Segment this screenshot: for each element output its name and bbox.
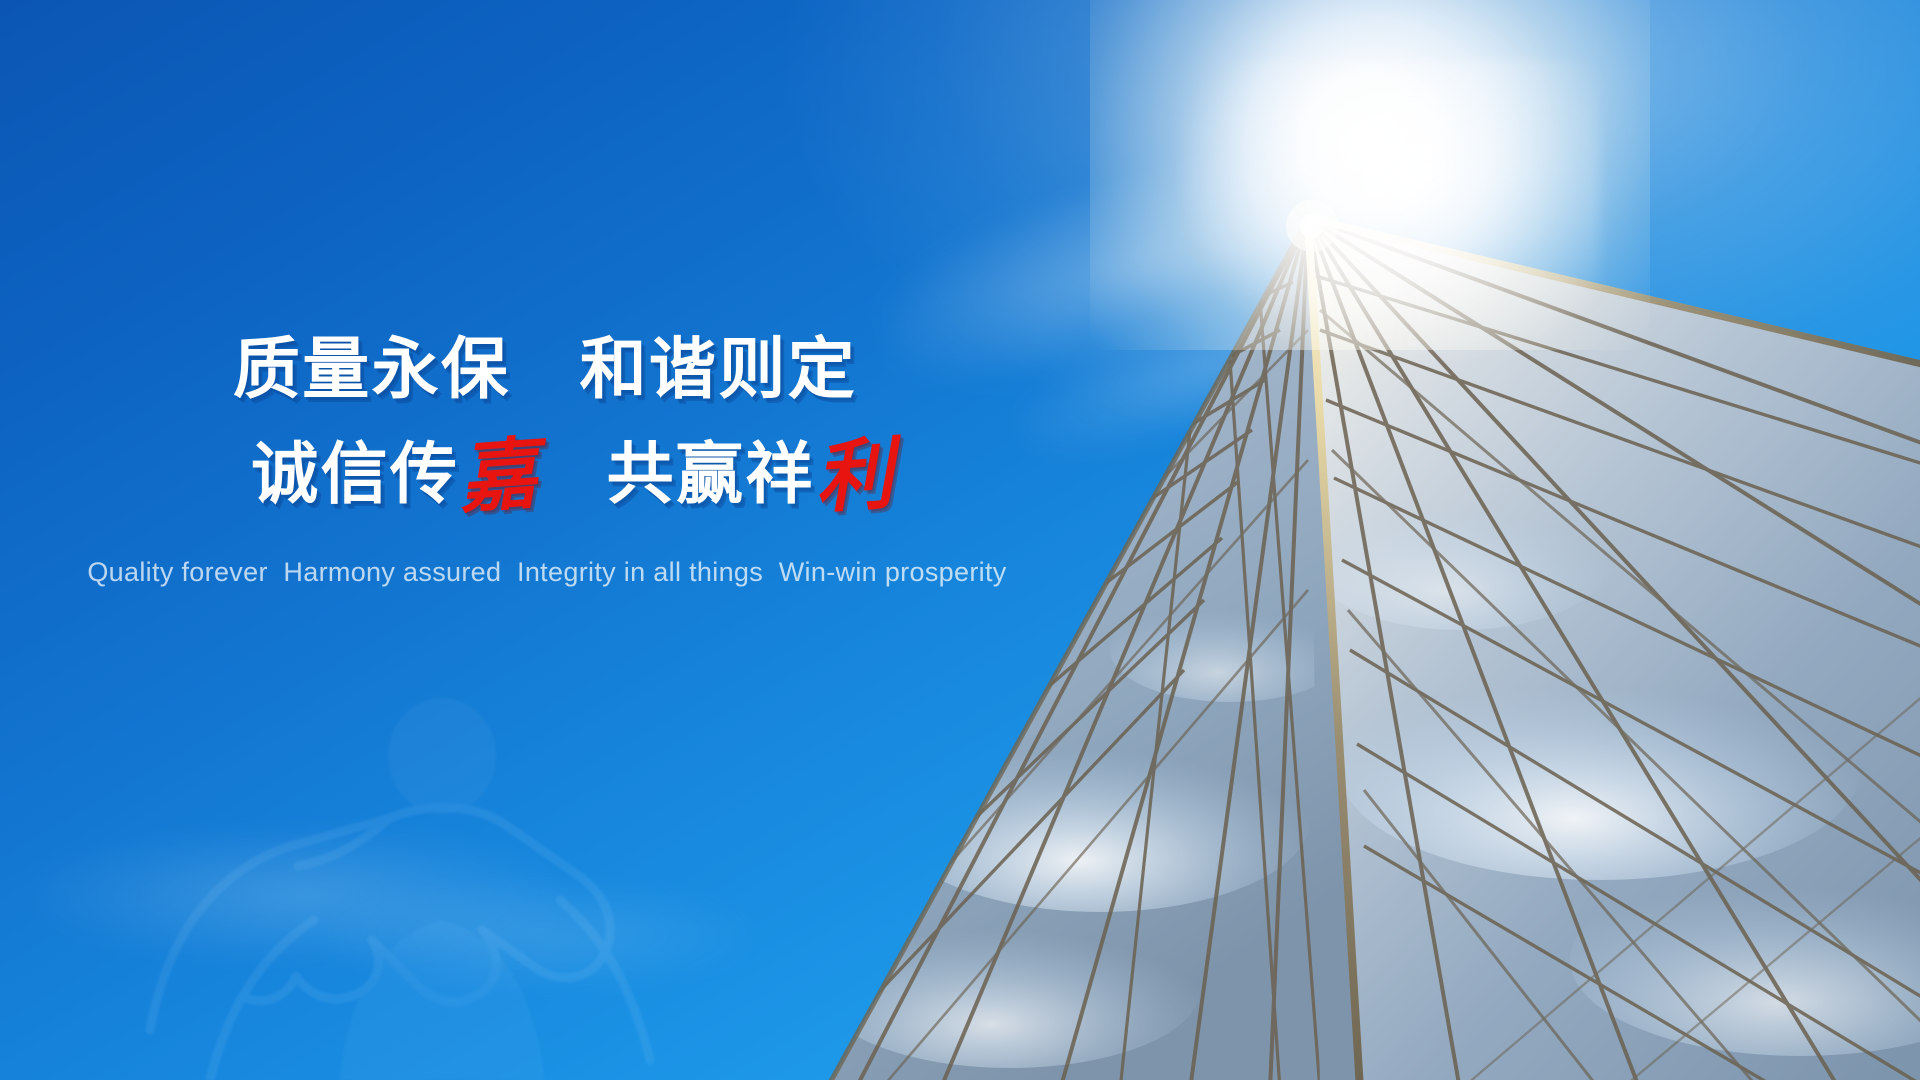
headline-line-1: 质量永保 和谐则定 xyxy=(30,330,1060,409)
hero-banner: 质量永保 和谐则定 诚信传嘉 共赢祥利 Quality forever Harm… xyxy=(0,0,1920,1080)
subtitle-tagline: Quality forever Harmony assured Integrit… xyxy=(34,557,1060,588)
headline-line-2-part-1: 诚信传 xyxy=(251,437,459,512)
cloud-wisp-icon xyxy=(1002,232,1438,488)
glass-pyramid-building-icon xyxy=(760,130,1920,1080)
headline-block: 质量永保 和谐则定 诚信传嘉 共赢祥利 Quality forever Harm… xyxy=(0,330,1060,588)
sun-bleed-icon xyxy=(1180,60,1600,360)
handshake-watermark-icon xyxy=(90,560,710,1080)
headline-line-2-part-2: 共赢祥 xyxy=(537,437,814,512)
sky-haze xyxy=(0,0,1920,1080)
cloud-wisp-icon xyxy=(867,112,1414,419)
sun-glare-icon xyxy=(1090,0,1650,350)
headline-accent-jia: 嘉 xyxy=(456,428,540,525)
headline-accent-li: 利 xyxy=(812,428,896,525)
cloud-wisp-icon xyxy=(330,880,750,990)
cloud-wisp-icon xyxy=(40,830,560,960)
headline-line-2: 诚信传嘉 共赢祥利 xyxy=(84,425,1060,517)
